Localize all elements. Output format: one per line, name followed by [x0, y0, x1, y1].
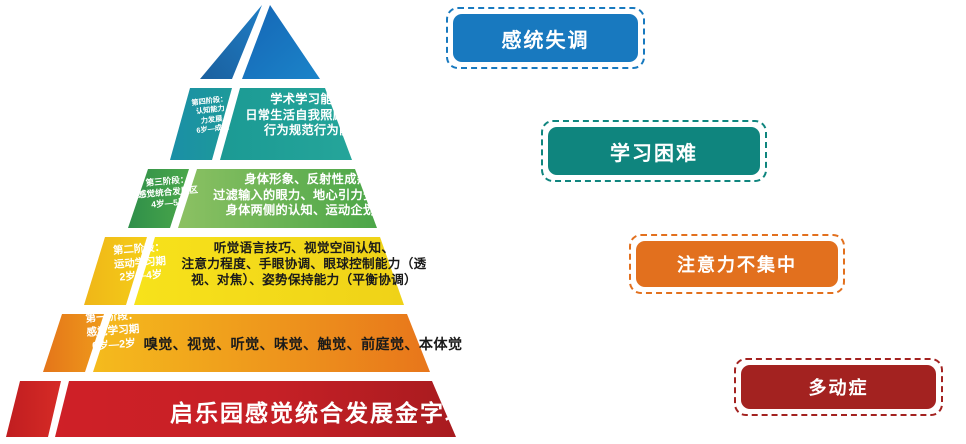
tier-stage-2-right [134, 237, 404, 305]
tier-stage-4-right [220, 88, 352, 160]
banner-main [55, 381, 456, 437]
callout-sensory-integration-disorder[interactable]: 感统失调 [446, 7, 645, 69]
pyramid-shapes [0, 0, 520, 444]
banner-left-wedge [6, 381, 61, 437]
tier-stage-3-right [178, 169, 377, 228]
tier-stage-4-left [170, 88, 232, 160]
tier-stage-1-left [43, 314, 104, 372]
tier-stage-1-right [93, 314, 430, 372]
callout-label: 注意力不集中 [636, 241, 838, 287]
tier-stage-3-left [128, 169, 189, 228]
callout-inattention[interactable]: 注意力不集中 [629, 234, 845, 294]
callout-label: 感统失调 [453, 14, 638, 62]
callout-label: 学习困难 [548, 127, 760, 175]
callout-label: 多动症 [741, 365, 936, 409]
pyramid-diagram: 第四阶段： 认知能力 力发展 6岁—成人 第三阶段： 感觉统合发展区 4岁—5岁… [0, 0, 520, 444]
callout-learning-difficulty[interactable]: 学习困难 [541, 120, 767, 182]
sensory-integration-pyramid-infographic: 第四阶段： 认知能力 力发展 6岁—成人 第三阶段： 感觉统合发展区 4岁—5岁… [0, 0, 966, 444]
callout-adhd[interactable]: 多动症 [734, 358, 943, 416]
